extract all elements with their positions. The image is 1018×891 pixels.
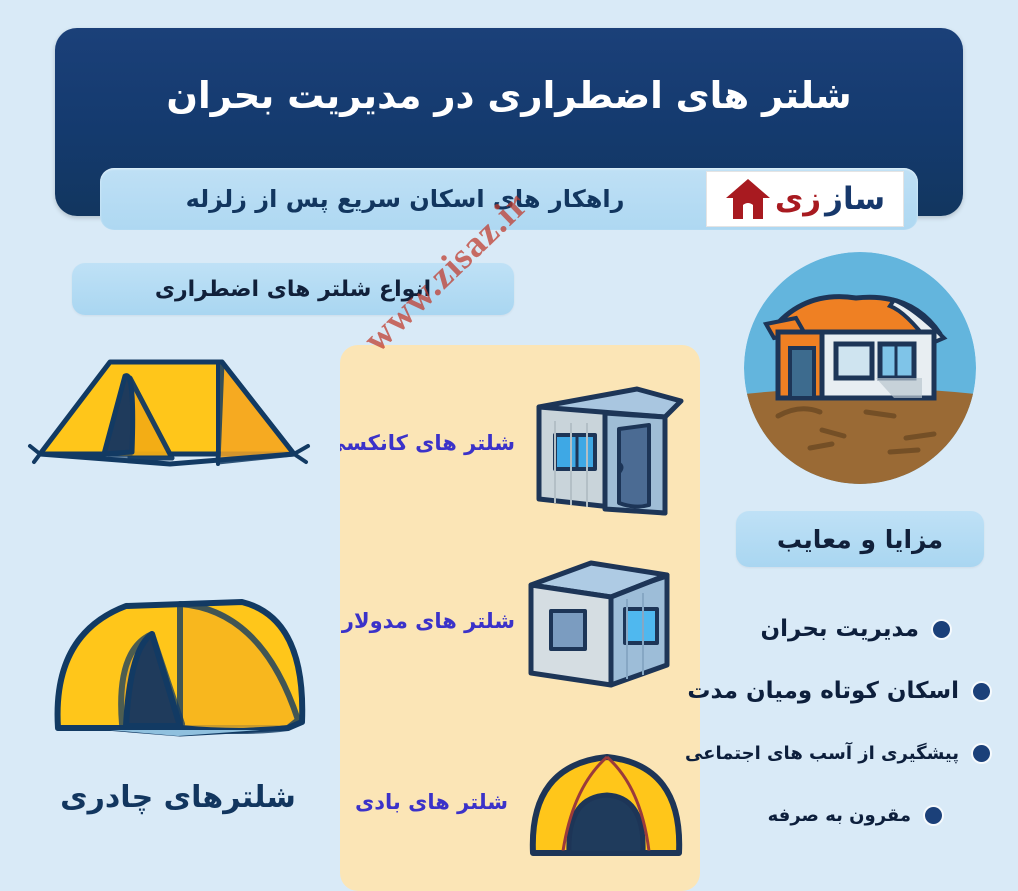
list-item: مقرون به صرفه	[700, 784, 990, 846]
bullet-icon	[973, 745, 990, 762]
shelter-type-row: شلتر های کانکسی	[340, 363, 700, 523]
shelter-type-label: شلتر های کانکسی	[340, 431, 515, 455]
shelter-type-label: شلتر های مدولار	[340, 609, 515, 633]
inflatable-shelter-icon	[515, 727, 700, 877]
list-item: پیشگیری از آسب های اجتماعی	[700, 722, 990, 784]
pros-list: مدیریت بحران اسکان کوتاه ومیان مدت پیشگی…	[700, 598, 990, 846]
subtitle-text: راهکار های اسکان سریع پس از زلزله	[114, 185, 706, 213]
list-item: اسکان کوتاه ومیان مدت	[700, 660, 990, 722]
tent-shelters-caption: شلترهای چادری	[30, 780, 326, 815]
list-item-label: مدیریت بحران	[761, 616, 920, 642]
list-item-label: اسکان کوتاه ومیان مدت	[687, 678, 959, 704]
logo-text-zi: زی	[775, 184, 821, 215]
shelter-type-label: شلتر های بادی	[340, 790, 515, 814]
a-frame-tent-illustration	[22, 340, 322, 490]
tunnel-tent-illustration	[30, 588, 326, 760]
bullet-icon	[933, 621, 950, 638]
section-chip-types: انواع شلتر های اضطراری	[72, 263, 514, 315]
subtitle-bar: ساز زی راهکار های اسکان سریع پس از زلزله	[100, 168, 918, 230]
container-shelter-icon	[515, 363, 700, 523]
damaged-house-illustration	[744, 252, 976, 484]
bullet-icon	[973, 683, 990, 700]
modular-shelter-icon	[515, 541, 700, 701]
logo-text-saz: ساز	[825, 184, 885, 215]
list-item-label: پیشگیری از آسب های اجتماعی	[685, 743, 959, 764]
bullet-icon	[925, 807, 942, 824]
brand-logo: ساز زی	[706, 171, 904, 227]
shelter-type-row: شلتر های مدولار	[340, 541, 700, 701]
shelter-type-row: شلتر های بادی	[340, 727, 700, 877]
house-icon	[725, 177, 771, 221]
list-item-label: مقرون به صرفه	[768, 805, 911, 826]
list-item: مدیریت بحران	[700, 598, 990, 660]
infographic-page: شلتر های اضطراری در مدیریت بحران ساز زی …	[0, 0, 1018, 891]
shelter-types-panel: شلتر های کانکسی شلتر های مدولار	[340, 345, 700, 891]
header-banner: شلتر های اضطراری در مدیریت بحران ساز زی …	[55, 28, 963, 216]
page-title: شلتر های اضطراری در مدیریت بحران	[55, 74, 963, 117]
section-chip-pros: مزایا و معایب	[736, 511, 984, 567]
